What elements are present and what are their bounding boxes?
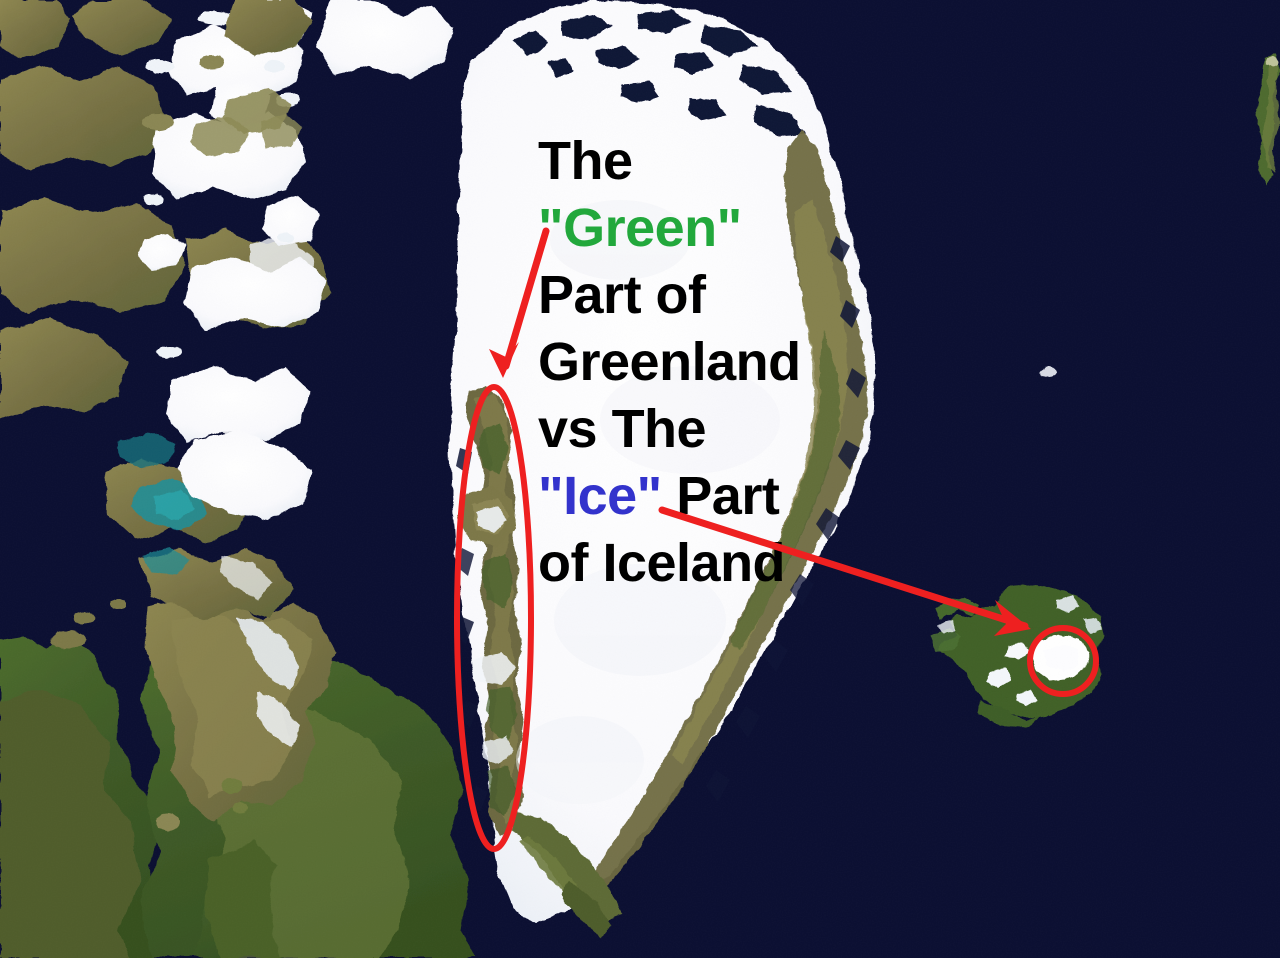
keyword-green: "Green" xyxy=(538,198,742,258)
caption-line-6-rest: Part xyxy=(662,466,780,526)
caption-line-7: of Iceland xyxy=(538,530,838,597)
keyword-ice: "Ice" xyxy=(538,466,662,526)
caption-line-4: Greenland xyxy=(538,329,838,396)
caption-line-6: "Ice" Part xyxy=(538,463,838,530)
caption-line-3: Part of xyxy=(538,262,838,329)
caption-text-block: The "Green" Part of Greenland vs The "Ic… xyxy=(538,128,838,597)
caption-line-1: The xyxy=(538,128,838,195)
map-canvas: The "Green" Part of Greenland vs The "Ic… xyxy=(0,0,1280,958)
caption-line-5: vs The xyxy=(538,396,838,463)
caption-line-2: "Green" xyxy=(538,195,838,262)
